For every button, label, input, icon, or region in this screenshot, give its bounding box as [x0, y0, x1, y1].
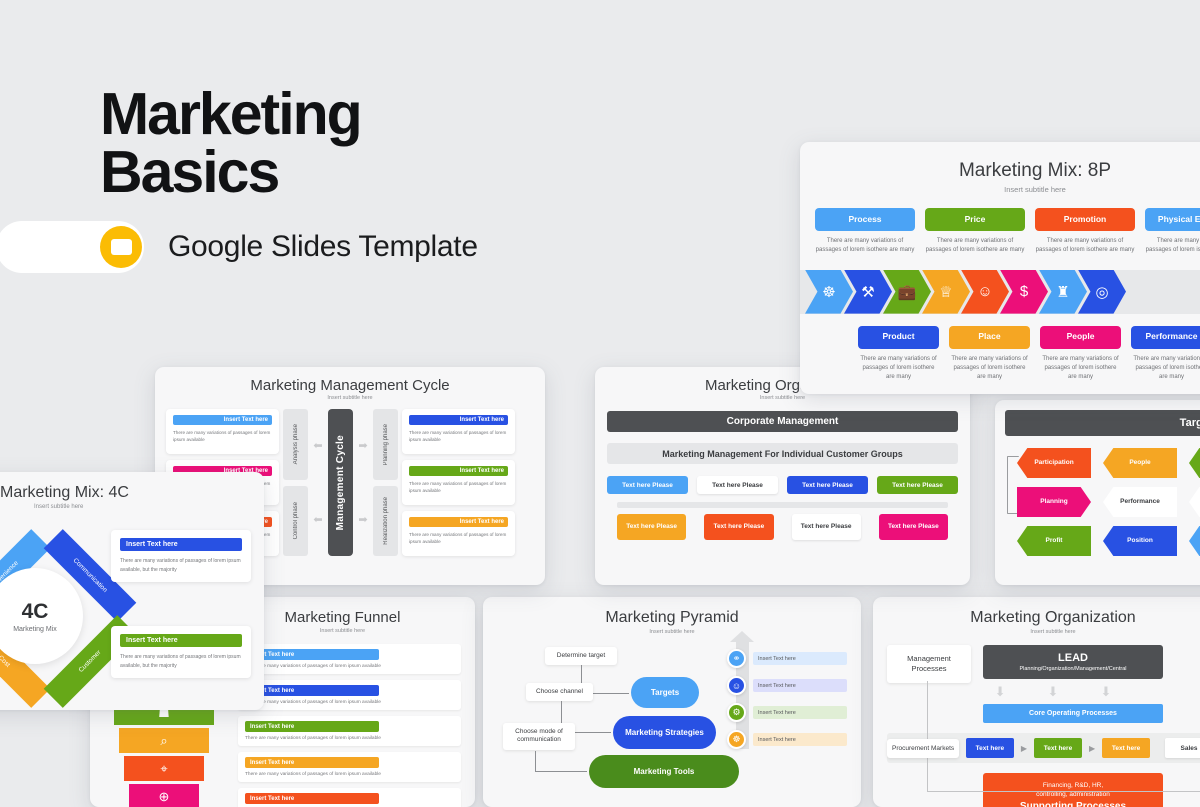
funnel-item[interactable]: Insert Text here There are many variatio…: [238, 680, 461, 710]
cycle-card[interactable]: Insert Text here There are many variatio…: [166, 409, 279, 454]
slide-marketing-pyramid[interactable]: Marketing Pyramid Insert subtitle here D…: [483, 597, 861, 807]
slide-subtitle: Insert subtitle here: [595, 395, 970, 401]
mix8p-item: Place There are many variations of passa…: [949, 326, 1030, 383]
hero-badge-row: Google Slides Template: [100, 226, 478, 268]
mix4c-card-text: There are many variations of passages of…: [120, 557, 242, 574]
cycle-core: Management Cycle: [328, 409, 353, 556]
process-chip[interactable]: Text here: [1102, 738, 1150, 758]
cycle-card-text: There are many variations of passages of…: [409, 480, 508, 495]
connector-line: [927, 791, 1200, 792]
slide-subtitle: Insert subtitle here: [0, 504, 264, 510]
mix8p-desc: There are many variations of passages of…: [949, 355, 1030, 383]
target-market-header: Target Market: [1005, 410, 1200, 436]
target-arrow[interactable]: Public opinion: [1189, 526, 1200, 556]
phase-control[interactable]: Control phase: [283, 486, 308, 557]
pyramid-diagram: Determine target Targets Choose channel …: [483, 635, 861, 785]
process-chip[interactable]: Text here: [966, 738, 1014, 758]
org-chip[interactable]: Text here Please: [879, 514, 948, 540]
cycle-card-label: Insert Text here: [409, 517, 508, 527]
mix8p-desc: There are many variations of passages of…: [815, 237, 915, 256]
slide-target-market[interactable]: Target Market Participation People Place…: [995, 400, 1200, 585]
slide-title: Marketing Pyramid: [483, 609, 861, 627]
mix4c-card-label: Insert Text here: [120, 538, 242, 551]
pyramid-side-label: Insert Text here: [753, 679, 847, 692]
mix8p-chip[interactable]: Promotion: [1035, 208, 1135, 231]
target-arrow[interactable]: Positive implementation: [1189, 487, 1200, 517]
slide-title: Marketing Mix: 8P: [800, 160, 1200, 182]
mix8p-chevron-band: ☸ ⚒ 💼 ♕ ☺ $ ♜ ◎: [800, 270, 1200, 314]
target-arrow[interactable]: Performance: [1103, 487, 1177, 517]
mix8p-item: People There are many variations of pass…: [1040, 326, 1121, 383]
funnel-item-label: Insert Text here: [245, 793, 379, 804]
mix4c-card[interactable]: Insert Text here There are many variatio…: [111, 626, 251, 678]
pyramid-side-label: Insert Text here: [753, 706, 847, 719]
cycle-card[interactable]: Insert Text here There are many variatio…: [402, 511, 515, 556]
target-arrow[interactable]: Place: [1189, 448, 1200, 478]
pyramid-side-label: Insert Text here: [753, 733, 847, 746]
profile-icon: ☺: [727, 676, 746, 695]
procurement-markets-box[interactable]: Procurement Markets: [887, 739, 959, 758]
mix8p-desc: There are many variations of passages of…: [925, 237, 1025, 256]
arrow-down-icon: ⬇: [1100, 684, 1111, 700]
process-chain-row: Procurement Markets Text here ▶ Text her…: [887, 733, 1200, 763]
slide-title: Marketing Management Cycle: [155, 377, 545, 394]
pyramid-label[interactable]: Choose mode of communication: [503, 723, 575, 750]
title-line-1: Marketing: [100, 86, 478, 144]
mix8p-bottom-row: Product There are many variations of pas…: [800, 326, 1200, 383]
lead-subtitle: Planning/Organization/Management/Central: [983, 666, 1163, 672]
target-row: Participation People Place: [1017, 448, 1200, 478]
funnel-item-text: There are many variations of passages of…: [245, 736, 454, 741]
mix8p-desc: There are many variations of passages of…: [1145, 237, 1200, 256]
lead-title: LEAD: [983, 652, 1163, 664]
mix8p-item: Physical Evidence There are many variati…: [1145, 208, 1200, 256]
phase-analysis[interactable]: Analysis phase: [283, 409, 308, 480]
hero-section: Marketing Basics Google Slides Template: [100, 86, 478, 268]
cycle-card[interactable]: Insert Text here There are many variatio…: [402, 460, 515, 505]
target-arrow[interactable]: Participation: [1017, 448, 1091, 478]
arrow-left-icon: ⬅: [312, 513, 324, 526]
phase-label: Planning phase: [383, 424, 389, 465]
pyramid-side-list: ⚭ Insert Text here ☺ Insert Text here ⚙ …: [727, 649, 847, 757]
cycle-left-arrows: ⬅ ⬅: [312, 409, 324, 556]
supporting-processes-box[interactable]: Financing, R&D, HR, controlling, adminis…: [983, 773, 1163, 807]
segment-label: Communication: [72, 557, 109, 594]
funnel-item-label: Insert Text here: [245, 685, 379, 696]
pyramid-side-item[interactable]: ☺ Insert Text here: [727, 676, 847, 695]
cycle-card-text: There are many variations of passages of…: [409, 429, 508, 444]
funnel-item-label: Insert Text here: [245, 757, 379, 768]
org-chip[interactable]: Text here Please: [607, 476, 688, 494]
phase-realization[interactable]: Realization phase: [373, 486, 398, 557]
funnel-item-text: There are many variations of passages of…: [245, 664, 454, 669]
core-operating-processes-bar: Core Operating Processes: [983, 704, 1163, 723]
mix4c-card-label: Insert Text here: [120, 634, 242, 647]
mix8p-chip[interactable]: Performance: [1131, 326, 1200, 349]
settings-icon: ☸: [727, 730, 746, 749]
phase-label: Analysis phase: [293, 424, 299, 464]
pyramid-side-item[interactable]: ⚭ Insert Text here: [727, 649, 847, 668]
funnel-item[interactable]: Insert Text here There are many variatio…: [238, 716, 461, 746]
phase-label: Realization phase: [383, 497, 389, 545]
target-market-grid: Participation People Place Planning Perf…: [995, 436, 1200, 556]
funnel-item[interactable]: Insert Text here There are many variatio…: [238, 644, 461, 674]
org-row-1: Text here Please Text here Please Text h…: [607, 476, 958, 494]
cycle-core-label: Management Cycle: [335, 435, 346, 530]
slide-subtitle: Insert subtitle here: [800, 185, 1200, 194]
management-processes-box[interactable]: Management Processes: [887, 645, 971, 683]
target-arrow[interactable]: Position: [1103, 526, 1177, 556]
page-title: Marketing Basics: [100, 86, 478, 202]
pyramid-pill[interactable]: Marketing Strategies: [613, 716, 716, 749]
mix8p-chip[interactable]: Place: [949, 326, 1030, 349]
funnel-stage[interactable]: ⌕: [119, 728, 209, 753]
cycle-card-label: Insert Text here: [409, 415, 508, 425]
mix8p-chip[interactable]: Process: [815, 208, 915, 231]
slide-title: Marketing Mix: 4C: [0, 484, 264, 502]
funnel-items: Insert Text here There are many variatio…: [238, 644, 461, 807]
mix8p-chip[interactable]: Physical Evidence: [1145, 208, 1200, 231]
center-small-label: Marketing Mix: [13, 626, 57, 633]
mix4c-card-text: There are many variations of passages of…: [120, 653, 242, 670]
cycle-right-phases: Planning phase Realization phase: [373, 409, 398, 556]
funnel-item-text: There are many variations of passages of…: [245, 700, 454, 705]
google-slides-icon: [100, 226, 142, 268]
mix8p-chip[interactable]: People: [1040, 326, 1121, 349]
segment-label: Customer: [78, 649, 103, 674]
funnel-item-text: There are many variations of passages of…: [245, 772, 454, 777]
org-chip[interactable]: Text here Please: [792, 514, 861, 540]
org-chip[interactable]: Text here Please: [877, 476, 958, 494]
target-row: Profit Position Public opinion: [1017, 526, 1200, 556]
phase-label: Control phase: [293, 502, 299, 539]
sales-box[interactable]: Sales: [1165, 738, 1200, 758]
mix8p-item: Performance There are many variations of…: [1131, 326, 1200, 383]
cycle-right-arrows: ➡ ➡: [357, 409, 369, 556]
mix8p-item: Promotion There are many variations of p…: [1035, 208, 1135, 256]
hero-subtitle: Google Slides Template: [168, 230, 478, 264]
support-title: Supporting Processes: [983, 801, 1163, 807]
mix8p-item: Product There are many variations of pas…: [858, 326, 939, 383]
target-arrow[interactable]: Profit: [1017, 526, 1091, 556]
pyramid-pill[interactable]: Targets: [631, 677, 699, 708]
pyramid-side-label: Insert Text here: [753, 652, 847, 665]
mix8p-desc: There are many variations of passages of…: [1131, 355, 1200, 383]
mix8p-desc: There are many variations of passages of…: [858, 355, 939, 383]
pyramid-label[interactable]: Choose channel: [526, 683, 593, 701]
phase-planning[interactable]: Planning phase: [373, 409, 398, 480]
link-icon: ⚭: [727, 649, 746, 668]
mix8p-item: Price There are many variations of passa…: [925, 208, 1025, 256]
funnel-stage[interactable]: ⊕: [129, 784, 199, 807]
chevron-right-icon: ▶: [1021, 744, 1027, 753]
mix4c-cards: Insert Text here There are many variatio…: [111, 530, 251, 710]
arrow-left-icon: ⬅: [312, 439, 324, 452]
pyramid-side-item[interactable]: ☸ Insert Text here: [727, 730, 847, 749]
slide-marketing-organization-detail[interactable]: Marketing Organization Insert subtitle h…: [873, 597, 1200, 807]
org-chip[interactable]: Text here Please: [697, 476, 778, 494]
target-arrow[interactable]: People: [1103, 448, 1177, 478]
mix8p-item: Process There are many variations of pas…: [815, 208, 915, 256]
process-chip[interactable]: Text here: [1034, 738, 1082, 758]
org-row-2: Text here Please Text here Please Text h…: [617, 514, 948, 540]
funnel-item[interactable]: Insert Text here There are many variatio…: [238, 788, 461, 807]
support-line-1: Financing, R&D, HR,: [983, 781, 1163, 790]
mix8p-chip[interactable]: Price: [925, 208, 1025, 231]
cycle-left-phases: Analysis phase Control phase: [283, 409, 308, 556]
org-chip[interactable]: Text here Please: [617, 514, 686, 540]
arrow-down-icon: ⬇: [1048, 684, 1059, 700]
center-circle: 4C Marketing Mix: [0, 568, 83, 664]
center-big-label: 4C: [22, 600, 49, 624]
mix8p-desc: There are many variations of passages of…: [1040, 355, 1121, 383]
mix4c-card[interactable]: Insert Text here There are many variatio…: [111, 530, 251, 582]
arrow-right-icon: ➡: [357, 513, 369, 526]
funnel-stage[interactable]: ⌖: [124, 756, 204, 781]
cycle-card-text: There are many variations of passages of…: [409, 531, 508, 546]
connector-line: [535, 751, 536, 772]
pyramid-pill[interactable]: Marketing Tools: [589, 755, 739, 788]
slide-marketing-organization[interactable]: Marketing Organization Insert subtitle h…: [595, 367, 970, 585]
cycle-card-label: Insert Text here: [409, 466, 508, 476]
org-connector: [617, 502, 948, 508]
slide-title: Marketing Organization: [873, 609, 1200, 627]
pyramid-side-item[interactable]: ⚙ Insert Text here: [727, 703, 847, 722]
cycle-right-cards: Insert Text here There are many variatio…: [402, 409, 515, 556]
gear-icon: ⚙: [727, 703, 746, 722]
org-chip[interactable]: Text here Please: [787, 476, 868, 494]
down-arrows: ⬇ ⬇ ⬇: [887, 684, 1200, 700]
org-chip[interactable]: Text here Please: [704, 514, 773, 540]
slide-glyph: [111, 239, 132, 255]
arrow-right-icon: ➡: [357, 439, 369, 452]
slide-marketing-mix-8p[interactable]: Marketing Mix: 8P Insert subtitle here P…: [800, 142, 1200, 394]
connector-line: [535, 771, 587, 772]
org-detail-diagram: Management Processes LEAD Planning/Organ…: [873, 635, 1200, 807]
cycle-card[interactable]: Insert Text here There are many variatio…: [402, 409, 515, 454]
title-line-2: Basics: [100, 144, 478, 202]
cycle-card-label: Insert Text here: [173, 415, 272, 425]
cycle-card-text: There are many variations of passages of…: [173, 429, 272, 444]
funnel-item[interactable]: Insert Text here There are many variatio…: [238, 752, 461, 782]
connector-line: [927, 681, 928, 791]
slide-marketing-mix-4c[interactable]: Marketing Mix: 4C Insert subtitle here C…: [0, 472, 264, 710]
funnel-item-label: Insert Text here: [245, 721, 379, 732]
pyramid-label[interactable]: Determine target: [545, 647, 617, 665]
mix8p-desc: There are many variations of passages of…: [1035, 237, 1135, 256]
target-row: Planning Performance Positive implementa…: [1017, 487, 1200, 517]
corporate-management-bar: Corporate Management: [607, 411, 958, 432]
funnel-item-label: Insert Text here: [245, 649, 379, 660]
target-arrow[interactable]: Planning: [1017, 487, 1091, 517]
chevron-right-icon: ▶: [1089, 744, 1095, 753]
mix8p-top-row: Process There are many variations of pas…: [800, 208, 1200, 256]
mix8p-chip[interactable]: Product: [858, 326, 939, 349]
lead-box[interactable]: LEAD Planning/Organization/Management/Ce…: [983, 645, 1163, 679]
network-icon[interactable]: ☸: [805, 270, 853, 314]
marketing-management-bar: Marketing Management For Individual Cust…: [607, 443, 958, 464]
arrow-down-icon: ⬇: [995, 684, 1006, 700]
